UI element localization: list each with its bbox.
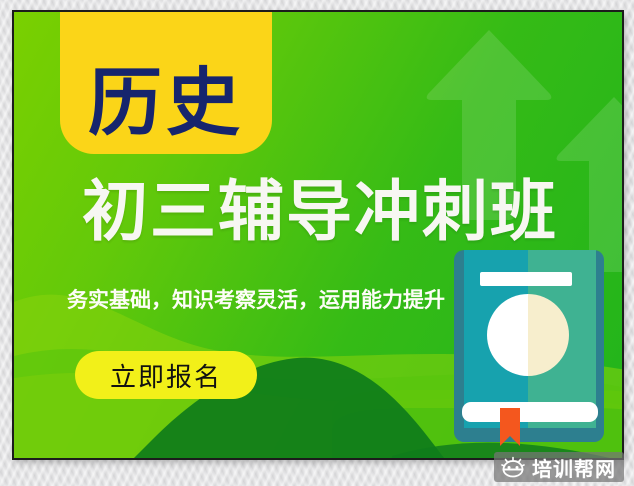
page-canvas: 历史 初三辅导冲刺班 务实基础，知识考察灵活，运用能力提升 立即报名	[0, 0, 634, 486]
subject-badge-label: 历史	[88, 66, 244, 140]
banner-headline: 初三辅导冲刺班	[26, 177, 614, 246]
sun-face-logo-icon	[500, 456, 526, 478]
watermark-text: 培训帮网	[532, 453, 616, 482]
enroll-now-button[interactable]: 立即报名	[75, 351, 257, 399]
watermark: 培训帮网	[494, 452, 624, 482]
banner-frame: 历史 初三辅导冲刺班 务实基础，知识考察灵活，运用能力提升 立即报名	[12, 10, 624, 460]
subject-badge: 历史	[60, 12, 272, 154]
promotional-banner: 历史 初三辅导冲刺班 务实基础，知识考察灵活，运用能力提升 立即报名	[14, 12, 622, 458]
book-icon	[454, 250, 604, 450]
banner-subtitle: 务实基础，知识考察灵活，运用能力提升	[26, 284, 486, 314]
enroll-now-button-label: 立即报名	[110, 357, 222, 394]
